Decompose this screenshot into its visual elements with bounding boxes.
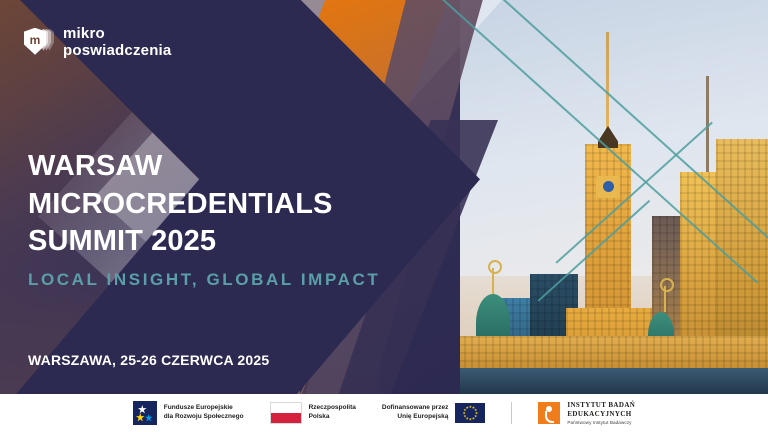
republic-line1: Rzeczpospolita bbox=[309, 404, 356, 413]
title-line-1: WARSAW MICROCREDENTIALS bbox=[28, 150, 333, 220]
subtitle: LOCAL INSIGHT, GLOBAL IMPACT bbox=[28, 270, 458, 290]
logo-fundusze-text: Fundusze Europejskie dla Rozwoju Społecz… bbox=[164, 404, 244, 422]
ibe-line1: INSTYTUT BADAŃ bbox=[567, 401, 635, 410]
eu-line2: Unię Europejską bbox=[382, 413, 448, 422]
poland-flag-icon bbox=[270, 402, 302, 424]
ibe-line2: EDUKACYJNYCH bbox=[567, 410, 635, 419]
brand-logo-line1: mikro bbox=[63, 26, 171, 43]
ibe-line3: Państwowy Instytut Badawczy bbox=[567, 420, 635, 425]
brand-logo-line2: poswiadczenia bbox=[63, 43, 171, 60]
logo-ibe: INSTYTUT BADAŃ EDUKACYJNYCH Państwowy In… bbox=[538, 401, 635, 425]
funds-line2: dla Rozwoju Społecznego bbox=[164, 413, 244, 422]
shield-letter: m bbox=[30, 34, 41, 46]
logo-dofinansowane-ue: Dofinansowane przez Unię Europejską bbox=[382, 403, 485, 423]
brand-logo[interactable]: m mikro poswiadczenia bbox=[24, 26, 171, 60]
shield-icon: m bbox=[24, 28, 54, 58]
footer-divider bbox=[511, 402, 512, 424]
title-line-2: SUMMIT 2025 bbox=[28, 225, 216, 257]
republic-line2: Polska bbox=[309, 413, 356, 422]
logo-ibe-text: INSTYTUT BADAŃ EDUKACYJNYCH Państwowy In… bbox=[567, 401, 635, 425]
logo-fundusze-europejskie: Fundusze Europejskie dla Rozwoju Społecz… bbox=[133, 401, 244, 425]
eu-line1: Dofinansowane przez bbox=[382, 404, 448, 413]
eu-funds-icon bbox=[133, 401, 157, 425]
logo-rzeczpospolita-polska: Rzeczpospolita Polska bbox=[270, 402, 356, 424]
ibe-icon bbox=[538, 402, 560, 424]
event-banner-slide: m mikro poswiadczenia WARSAW MICROCREDEN… bbox=[0, 0, 768, 432]
headline-block: WARSAW MICROCREDENTIALS SUMMIT 2025 LOCA… bbox=[28, 148, 458, 290]
eu-flag-icon bbox=[455, 403, 485, 423]
palace-clock bbox=[596, 176, 620, 198]
page-title: WARSAW MICROCREDENTIALS SUMMIT 2025 bbox=[28, 148, 458, 261]
logo-republic-text: Rzeczpospolita Polska bbox=[309, 404, 356, 422]
brand-logo-text: mikro poswiadczenia bbox=[63, 26, 171, 60]
funds-line1: Fundusze Europejskie bbox=[164, 404, 244, 413]
date-location-text: WARSZAWA, 25-26 CZERWCA 2025 bbox=[28, 352, 269, 368]
funding-logo-bar: Fundusze Europejskie dla Rozwoju Społecz… bbox=[0, 394, 768, 432]
logo-eu-text: Dofinansowane przez Unię Europejską bbox=[382, 404, 448, 422]
